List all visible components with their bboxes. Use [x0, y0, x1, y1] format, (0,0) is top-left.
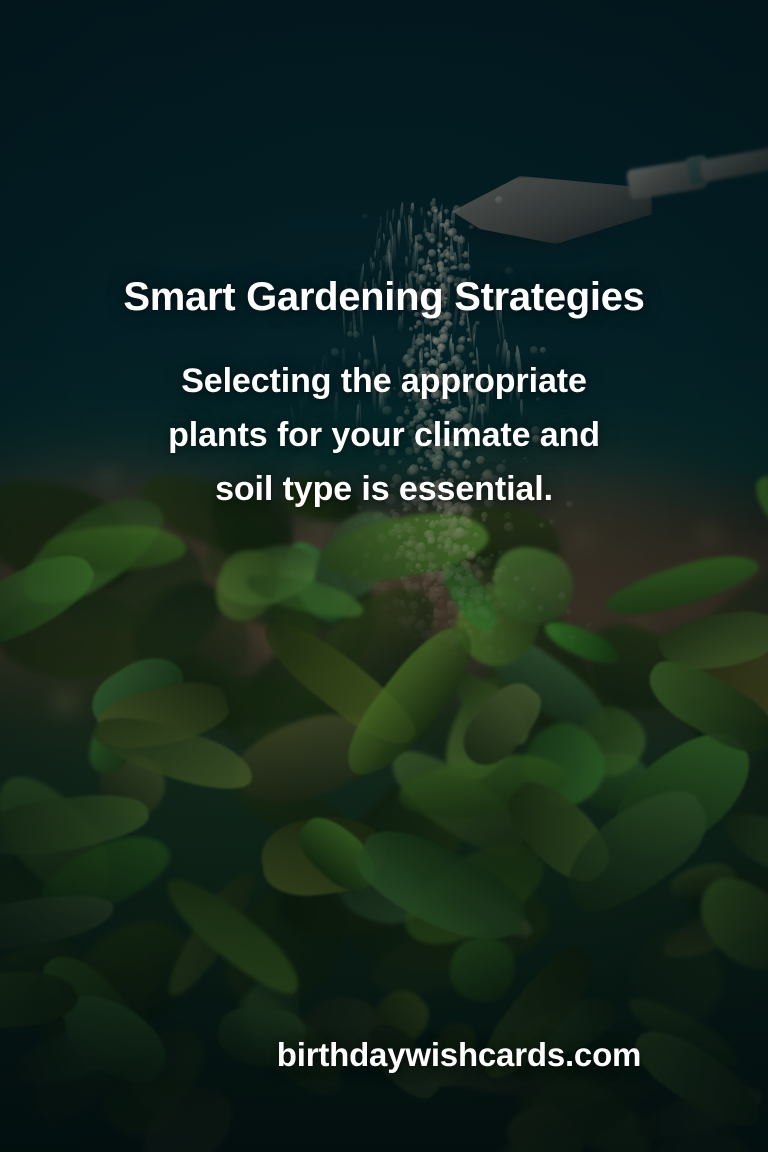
- footer-website-url: birthdaywishcards.com: [0, 1036, 768, 1074]
- subheadline-line-1: Selecting the appropriate: [0, 354, 768, 408]
- subheadline-line-3: soil type is essential.: [0, 462, 768, 516]
- gardening-poster: Smart Gardening Strategies Selecting the…: [0, 0, 768, 1152]
- poster-headline: Smart Gardening Strategies: [0, 276, 768, 319]
- subheadline-line-2: plants for your climate and: [0, 408, 768, 462]
- text-overlay: Smart Gardening Strategies Selecting the…: [0, 0, 768, 1152]
- poster-subheadline: Selecting the appropriate plants for you…: [0, 354, 768, 516]
